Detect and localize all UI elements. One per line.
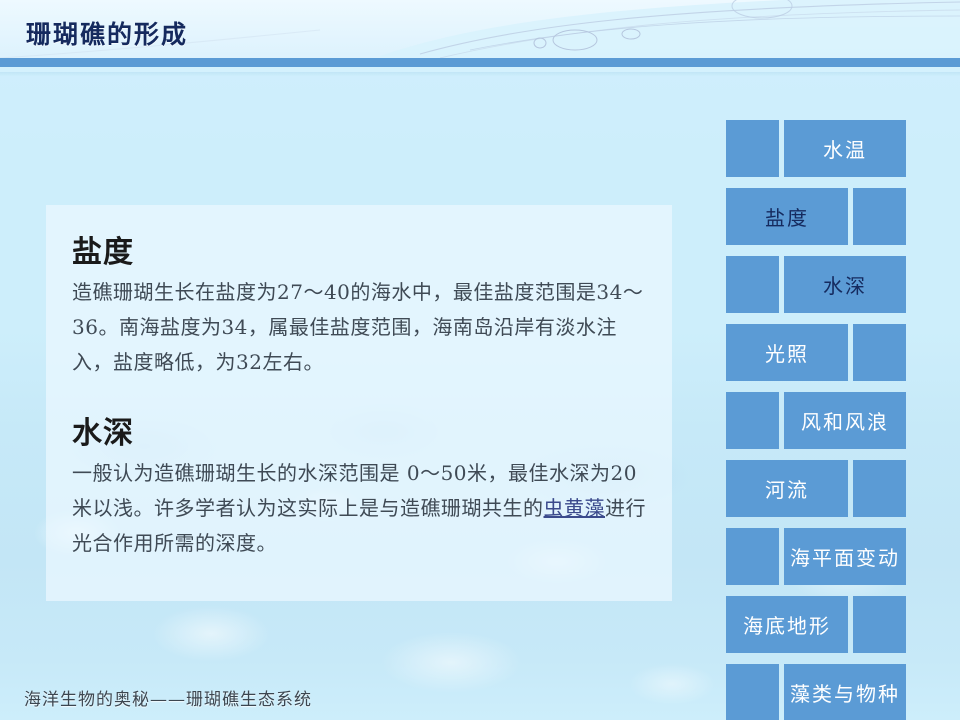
nav-item-salinity[interactable]: 盐度 [726,188,906,251]
nav-item-sea-level-change[interactable]: 海平面变动 [726,528,906,591]
section-body-depth: 一般认为造礁珊瑚生长的水深范围是 0～50米，最佳水深为20米以浅。许多学者认为… [72,456,646,561]
nav-item-seafloor-topography[interactable]: 海底地形 [726,596,906,659]
nav-accent-block [726,528,779,585]
zooxanthellae-link[interactable]: 虫黄藻 [544,496,606,520]
content-panel: 盐度 造礁珊瑚生长在盐度为27～40的海水中，最佳盐度范围是34～36。南海盐度… [46,205,672,601]
nav-accent-block [853,596,906,653]
nav-accent-block [853,188,906,245]
nav-accent-block [726,256,779,313]
nav-item-algae-and-species[interactable]: 藻类与物种 [726,664,906,720]
slide: 珊瑚礁的形成 盐度 造礁珊瑚生长在盐度为27～40的海水中，最佳盐度范围是34～… [0,0,960,720]
nav-label[interactable]: 水深 [784,256,906,313]
nav-item-wind-and-waves[interactable]: 风和风浪 [726,392,906,455]
section-body-salinity: 造礁珊瑚生长在盐度为27～40的海水中，最佳盐度范围是34～36。南海盐度为34… [72,275,646,380]
nav-label[interactable]: 盐度 [726,188,848,245]
nav-accent-block [853,460,906,517]
nav-accent-block [726,120,779,177]
nav-accent-block [853,324,906,381]
nav-label[interactable]: 风和风浪 [784,392,906,449]
nav-label[interactable]: 水温 [784,120,906,177]
header-accent-rule [0,58,960,67]
nav-label[interactable]: 河流 [726,460,848,517]
slide-header: 珊瑚礁的形成 [0,0,960,58]
section-heading-depth: 水深 [72,408,646,452]
nav-item-rivers[interactable]: 河流 [726,460,906,523]
nav-item-water-temperature[interactable]: 水温 [726,120,906,183]
nav-label[interactable]: 藻类与物种 [784,664,906,720]
slide-footer: 海洋生物的奥秘——珊瑚礁生态系统 [24,685,312,710]
nav-item-water-depth[interactable]: 水深 [726,256,906,319]
nav-label[interactable]: 海平面变动 [784,528,906,585]
section-spacer [72,380,646,408]
header-rule-shadow [0,72,960,76]
nav-item-light[interactable]: 光照 [726,324,906,387]
nav-label[interactable]: 海底地形 [726,596,848,653]
topic-nav: 水温 盐度 水深 光照 风和风浪 河流 海平面变动 海底地形 [726,120,906,720]
nav-accent-block [726,392,779,449]
section-heading-salinity: 盐度 [72,227,646,271]
nav-accent-block [726,664,779,720]
page-title: 珊瑚礁的形成 [26,15,188,51]
nav-label[interactable]: 光照 [726,324,848,381]
